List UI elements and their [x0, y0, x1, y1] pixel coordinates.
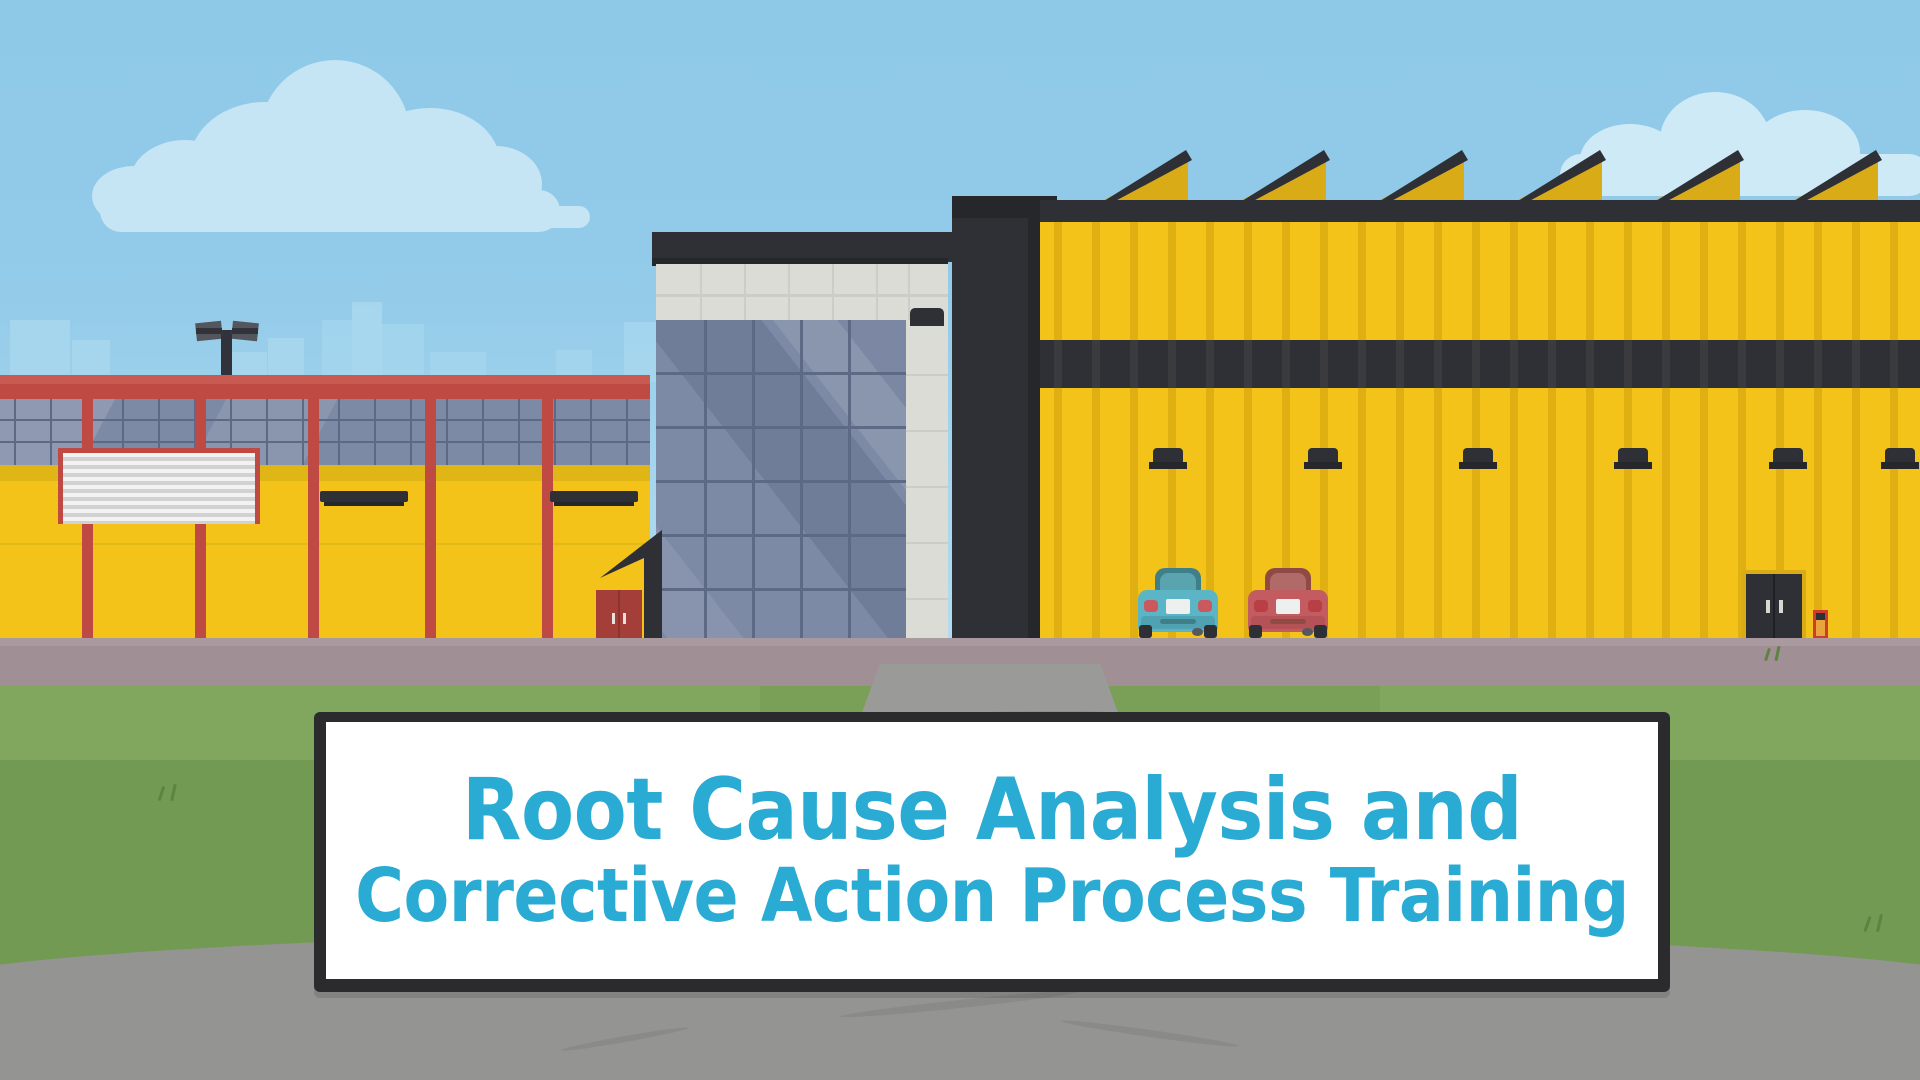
rollup-garage-door — [58, 448, 260, 524]
left-warehouse-column — [308, 399, 319, 645]
title-line-2: Corrective Action Process Training — [355, 859, 1629, 934]
tower-band-seam — [700, 264, 702, 320]
tower-glass-wall — [656, 320, 906, 645]
fire-extinguisher-body — [1816, 620, 1825, 636]
sawtooth-roof-shape — [1040, 144, 1920, 206]
title-sign-text: Root Cause Analysis and Corrective Actio… — [326, 722, 1658, 979]
tower-concrete-pillar — [906, 320, 948, 645]
car-tire-left — [1249, 625, 1262, 638]
tower-band-seam — [744, 264, 746, 320]
pavement-highlight — [0, 638, 1920, 646]
tower-band-seam — [788, 264, 790, 320]
left-warehouse-column — [542, 399, 553, 645]
car-bumper-grill — [1160, 619, 1196, 624]
cloud-large — [80, 60, 590, 235]
wall-vent-shadow — [324, 502, 404, 506]
wall-vent — [320, 491, 408, 502]
warehouse-upper-wall — [1040, 222, 1920, 340]
car-taillight-left — [1144, 600, 1158, 612]
car-taillight-right — [1308, 600, 1322, 612]
car-exhaust — [1192, 628, 1203, 636]
corrugated-siding-dark — [1040, 340, 1920, 388]
car-tire-right — [1204, 625, 1217, 638]
car-red — [1248, 568, 1328, 640]
warehouse-vent-base — [1149, 462, 1187, 469]
wall-vent-shadow — [554, 502, 634, 506]
rollup-door-slats — [63, 453, 255, 524]
left-warehouse-roof-highlight — [0, 375, 650, 384]
warehouse-door-seam — [1773, 574, 1775, 640]
entry-awning — [600, 530, 662, 645]
car-bumper-grill — [1270, 619, 1306, 624]
car-license-plate — [1276, 599, 1300, 614]
corrugated-siding — [1040, 222, 1920, 340]
car-license-plate — [1166, 599, 1190, 614]
car-teal — [1138, 568, 1218, 640]
warehouse-vent-base — [1881, 462, 1919, 469]
glass-curtain-wall-tower — [652, 232, 962, 645]
fire-extinguisher-top — [1816, 613, 1825, 620]
warehouse-vent-base — [1614, 462, 1652, 469]
warehouse-dark-band — [1040, 340, 1920, 388]
warehouse-door-handle — [1766, 600, 1770, 613]
car-exhaust — [1302, 628, 1313, 636]
tower-band-seam — [832, 264, 834, 320]
warehouse-vent-base — [1769, 462, 1807, 469]
tower-band-seam — [876, 264, 878, 320]
car-tire-left — [1139, 625, 1152, 638]
wall-vent — [550, 491, 638, 502]
sawtooth-roof — [1040, 144, 1920, 206]
left-warehouse-column — [425, 399, 436, 645]
warehouse-top-band — [1040, 200, 1920, 222]
tower-pillar-cap — [910, 308, 944, 326]
car-taillight-left — [1254, 600, 1268, 612]
awning-shape — [600, 530, 662, 645]
warehouse-door-handle — [1779, 600, 1783, 613]
title-line-1: Root Cause Analysis and — [462, 767, 1522, 855]
warehouse-vent-base — [1459, 462, 1497, 469]
warehouse-vent-base — [1304, 462, 1342, 469]
car-tire-right — [1314, 625, 1327, 638]
slide-canvas: Root Cause Analysis and Corrective Actio… — [0, 0, 1920, 1080]
car-taillight-right — [1198, 600, 1212, 612]
